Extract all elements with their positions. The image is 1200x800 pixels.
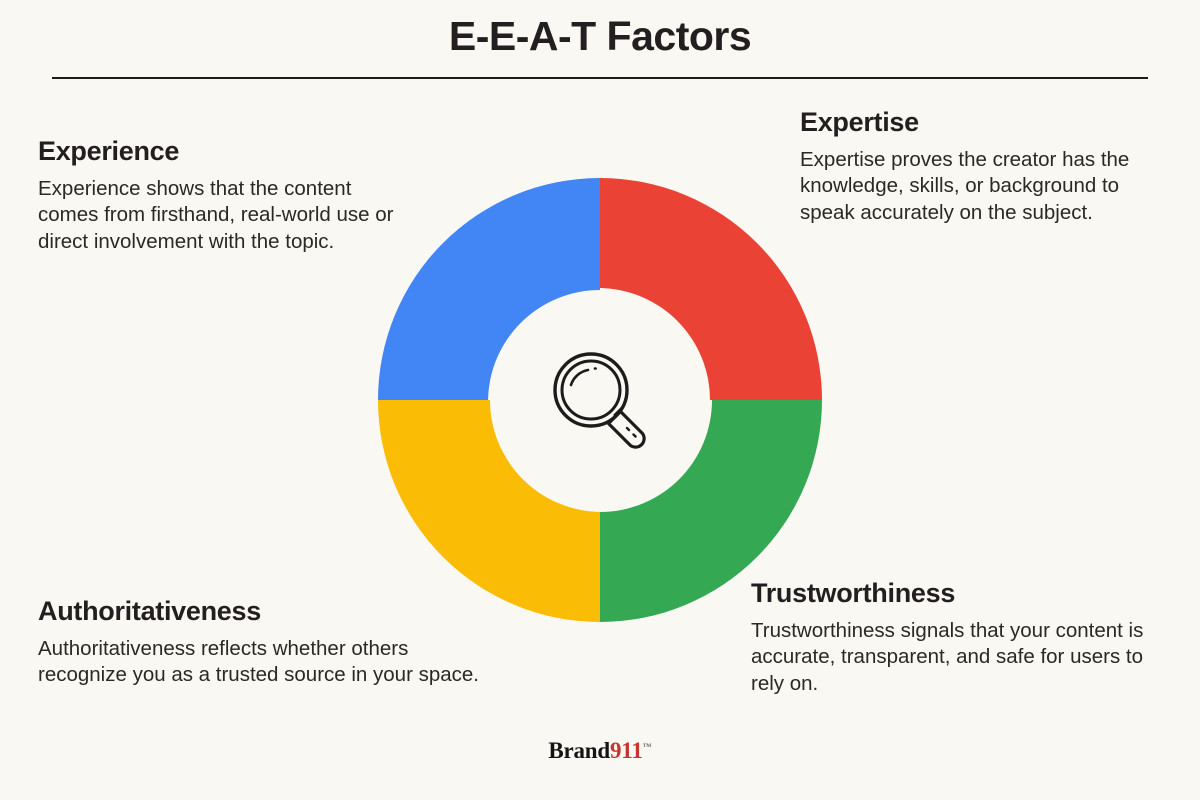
eeat-infographic: E-E-A-T Factors Experienc	[0, 0, 1200, 800]
title-divider	[52, 77, 1148, 79]
page-title: E-E-A-T Factors	[0, 12, 1200, 61]
brand-logo-name: Brand	[548, 738, 610, 763]
factor-block-experience: Experience Experience shows that the con…	[38, 136, 408, 255]
brand-logo-trademark: ™	[643, 741, 652, 751]
factor-body-experience: Experience shows that the content comes …	[38, 176, 408, 255]
brand-logo: Brand911™	[0, 739, 1200, 762]
factor-body-trustworthiness: Trustworthiness signals that your conten…	[751, 618, 1181, 697]
factor-heading-experience: Experience	[38, 136, 408, 167]
factor-body-expertise: Expertise proves the creator has the kno…	[800, 147, 1172, 226]
factor-body-authoritativeness: Authoritativeness reflects whether other…	[38, 636, 498, 688]
factor-heading-expertise: Expertise	[800, 107, 1172, 138]
brand-logo-number: 911	[610, 738, 643, 763]
factor-block-authoritativeness: Authoritativeness Authoritativeness refl…	[38, 596, 498, 689]
factor-block-expertise: Expertise Expertise proves the creator h…	[800, 107, 1172, 226]
magnifying-glass-icon	[536, 337, 664, 465]
factor-heading-trustworthiness: Trustworthiness	[751, 578, 1181, 609]
factor-heading-authoritativeness: Authoritativeness	[38, 596, 498, 627]
factor-block-trustworthiness: Trustworthiness Trustworthiness signals …	[751, 578, 1181, 697]
